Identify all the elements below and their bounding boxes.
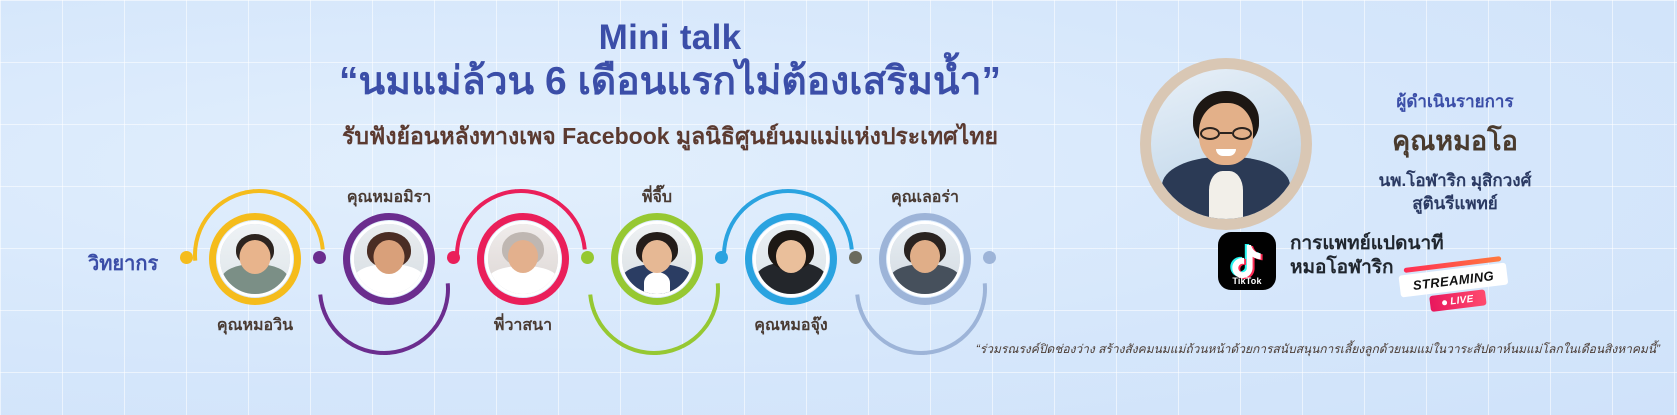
host-avatar-frame xyxy=(1140,58,1312,230)
speaker-ring-6 xyxy=(879,213,971,305)
speaker-photo-2 xyxy=(351,221,427,297)
speaker-ring-2 xyxy=(343,213,435,305)
host-full-name: นพ.โอฬาริก มุสิกวงศ์ xyxy=(1300,170,1610,193)
speaker-card-1[interactable]: คุณหมอวิน xyxy=(209,213,301,305)
tiktok-channel-line-1: การแพทย์แปดนาที xyxy=(1290,232,1444,256)
speaker-ring-4 xyxy=(611,213,703,305)
connector-dot-1 xyxy=(180,251,193,264)
live-dot-icon xyxy=(1442,299,1448,305)
speakers-label: วิทยากร xyxy=(88,247,158,279)
host-avatar xyxy=(1151,69,1301,219)
title-block: Mini talk “นมแม่ล้วน 6 เดือนแรกไม่ต้องเส… xyxy=(240,18,1100,155)
speaker-photo-1 xyxy=(217,221,293,297)
speaker-photo-4 xyxy=(619,221,695,297)
speaker-card-6[interactable]: คุณเลอร่า xyxy=(879,213,971,305)
speaker-ring-1 xyxy=(209,213,301,305)
connector-dot-5 xyxy=(715,251,728,264)
connector-dot-6 xyxy=(849,251,862,264)
connector-dot-2 xyxy=(313,251,326,264)
page-title: “นมแม่ล้วน 6 เดือนแรกไม่ต้องเสริมน้ำ” xyxy=(240,59,1100,105)
host-role: ผู้ดำเนินรายการ xyxy=(1300,88,1610,115)
speaker-name-2: คุณหมอมิรา xyxy=(294,185,484,210)
speakers-section: วิทยากร xyxy=(0,175,1070,350)
host-specialty: สูตินรีแพทย์ xyxy=(1300,193,1610,216)
connector-dot-4 xyxy=(581,251,594,264)
tiktok-wordmark: TikTok xyxy=(1218,276,1276,286)
connector-dot-7 xyxy=(983,251,996,264)
speaker-card-2[interactable]: คุณหมอมิรา xyxy=(343,213,435,305)
speaker-photo-3 xyxy=(485,221,561,297)
tiktok-icon[interactable]: TikTok xyxy=(1218,232,1276,290)
speaker-ring-5 xyxy=(745,213,837,305)
connector-dot-3 xyxy=(447,251,460,264)
host-info: ผู้ดำเนินรายการ คุณหมอโอ นพ.โอฬาริก มุสิ… xyxy=(1300,88,1610,216)
speaker-card-5[interactable]: คุณหมอจุ๊ง xyxy=(745,213,837,305)
page-subtitle: รับฟังย้อนหลังทางเพจ Facebook มูลนิธิศูน… xyxy=(240,119,1100,155)
speaker-ring-3 xyxy=(477,213,569,305)
speaker-photo-6 xyxy=(887,221,963,297)
speaker-name-3: พี่วาสนา xyxy=(428,313,618,338)
speaker-name-1: คุณหมอวิน xyxy=(160,313,350,338)
live-label: LIVE xyxy=(1450,293,1475,307)
speaker-card-3[interactable]: พี่วาสนา xyxy=(477,213,569,305)
page-title-kicker: Mini talk xyxy=(240,18,1100,57)
footer-note: “ร่วมรณรงค์ปิดช่องว่าง สร้างสังคมนมแม่ถ้… xyxy=(840,340,1660,359)
speaker-name-6: คุณเลอร่า xyxy=(830,185,1020,210)
speaker-name-4: พี่จี๊บ xyxy=(562,185,752,210)
speaker-card-4[interactable]: พี่จี๊บ xyxy=(611,213,703,305)
host-name: คุณหมอโอ xyxy=(1300,119,1610,162)
banner-root: Mini talk “นมแม่ล้วน 6 เดือนแรกไม่ต้องเส… xyxy=(0,0,1677,415)
speaker-photo-5 xyxy=(753,221,829,297)
speaker-name-5: คุณหมอจุ๊ง xyxy=(696,313,886,338)
